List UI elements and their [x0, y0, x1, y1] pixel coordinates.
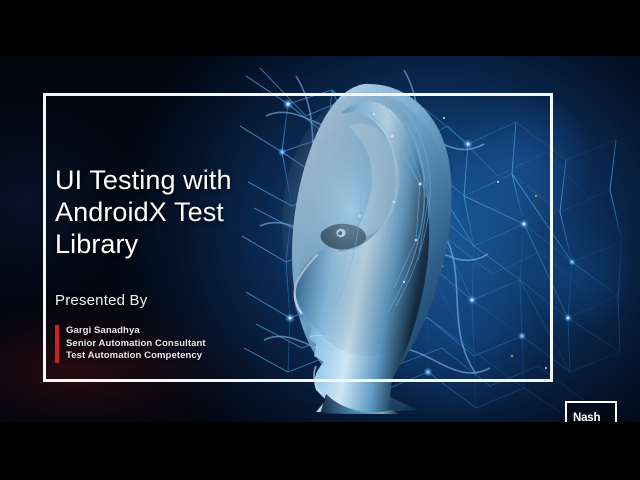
presenter-accent-bar	[55, 325, 59, 363]
ai-face-profile	[268, 74, 478, 414]
presenter-name: Gargi Sanadhya	[66, 325, 206, 338]
presentation-slide: UI Testing with AndroidX Test Library Pr…	[0, 56, 640, 422]
nashtech-logo: Nash Tech.	[565, 401, 617, 422]
letterbox-top	[0, 0, 640, 56]
presented-by-label: Presented By	[55, 260, 287, 309]
presenter-lines: Gargi Sanadhya Senior Automation Consult…	[66, 325, 206, 363]
presenter-team: Test Automation Competency	[66, 350, 206, 363]
page-title: UI Testing with AndroidX Test Library	[55, 164, 287, 260]
letterbox-bottom	[0, 422, 640, 480]
presenter-block: Gargi Sanadhya Senior Automation Consult…	[55, 325, 287, 363]
logo-line-nash: Nash	[573, 412, 600, 423]
video-frame: UI Testing with AndroidX Test Library Pr…	[0, 0, 640, 480]
slide-text-block: UI Testing with AndroidX Test Library Pr…	[55, 164, 287, 363]
presenter-role: Senior Automation Consultant	[66, 338, 206, 351]
